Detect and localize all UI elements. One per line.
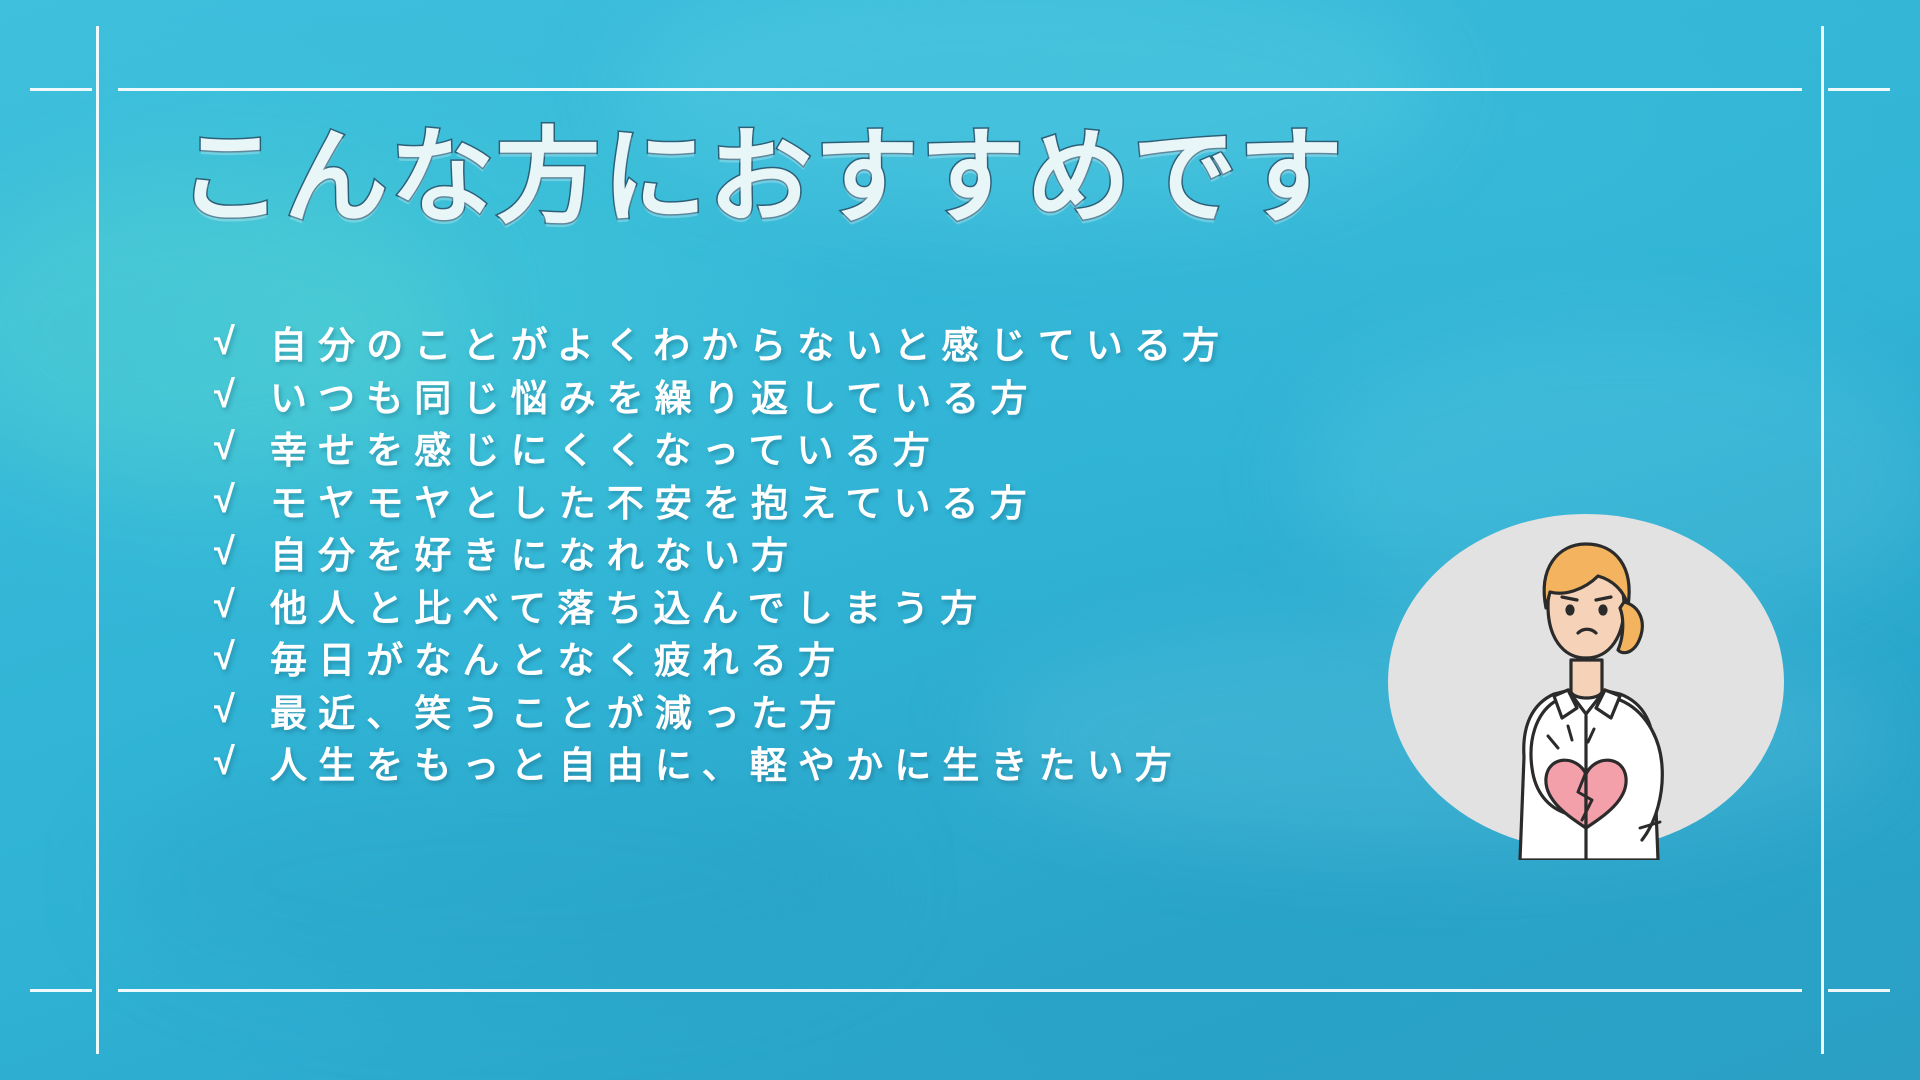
list-item-label: 自分を好きになれない方 (270, 525, 799, 579)
check-icon: √ (214, 691, 270, 729)
list-item-label: 人生をもっと自由に、軽やかに生きたい方 (270, 735, 1183, 789)
list-item-label: 幸せを感じにくくなっている方 (270, 420, 941, 474)
list-item: √ いつも同じ悩みを繰り返している方 (214, 369, 1644, 422)
check-icon: √ (214, 743, 270, 781)
frame-top-line (118, 88, 1802, 91)
check-icon: √ (214, 586, 270, 624)
frame-tick-top-left-horizontal (30, 88, 92, 91)
list-item: √ 人生をもっと自由に、軽やかに生きたい方 (214, 736, 1644, 789)
check-icon: √ (214, 638, 270, 676)
frame-left-line (96, 88, 99, 992)
page-title: こんな方におすすめです (178, 122, 1345, 234)
list-item-label: 他人と比べて落ち込んでしまう方 (270, 578, 988, 632)
list-item: √ 毎日がなんとなく疲れる方 (214, 631, 1644, 684)
list-item-label: いつも同じ悩みを繰り返している方 (270, 368, 1039, 422)
frame-tick-bottom-right-horizontal (1828, 989, 1890, 992)
frame-tick-top-left-vertical (96, 26, 99, 88)
recommendation-list: √ 自分のことがよくわからないと感じている方 √ いつも同じ悩みを繰り返している… (214, 316, 1644, 789)
list-item: √ 自分を好きになれない方 (214, 526, 1644, 579)
list-item: √ 最近、笑うことが減った方 (214, 684, 1644, 737)
list-item: √ 他人と比べて落ち込んでしまう方 (214, 579, 1644, 632)
frame-tick-top-right-horizontal (1828, 88, 1890, 91)
list-item-label: 毎日がなんとなく疲れる方 (270, 630, 846, 684)
list-item-label: 自分のことがよくわからないと感じている方 (270, 315, 1230, 369)
check-icon: √ (214, 533, 270, 571)
check-icon: √ (214, 481, 270, 519)
list-item: √ モヤモヤとした不安を抱えている方 (214, 474, 1644, 527)
slide-canvas: こんな方におすすめです (0, 0, 1920, 1080)
list-item-label: 最近、笑うことが減った方 (270, 683, 847, 737)
list-item: √ 幸せを感じにくくなっている方 (214, 421, 1644, 474)
list-item-label: モヤモヤとした不安を抱えている方 (270, 473, 1038, 527)
frame-bottom-line (118, 989, 1802, 992)
frame-tick-bottom-right-vertical (1821, 992, 1824, 1054)
check-icon: √ (214, 428, 270, 466)
check-icon: √ (214, 376, 270, 414)
check-icon: √ (214, 323, 270, 361)
frame-right-line (1821, 88, 1824, 992)
frame-tick-bottom-left-horizontal (30, 989, 92, 992)
frame-tick-top-right-vertical (1821, 26, 1824, 88)
list-item: √ 自分のことがよくわからないと感じている方 (214, 316, 1644, 369)
frame-tick-bottom-left-vertical (96, 992, 99, 1054)
